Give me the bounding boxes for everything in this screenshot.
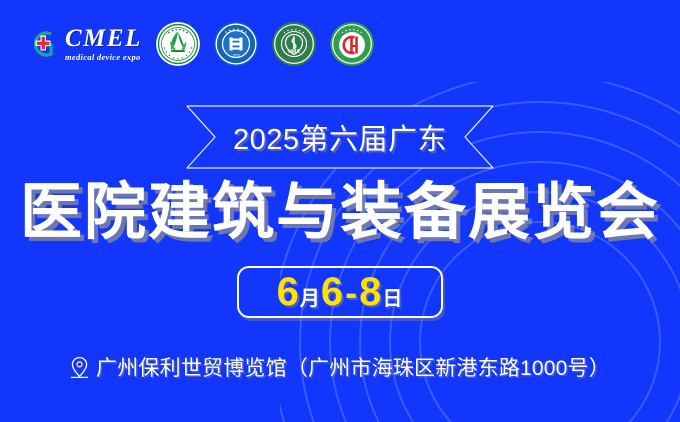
location-pin-icon (70, 356, 89, 379)
date-range-dash: - (343, 275, 359, 311)
venue-line: 广州保利世贸博览馆（广州市海珠区新港东路1000号） (0, 352, 680, 382)
date-day-start: 6 (321, 272, 343, 312)
event-poster: CMEL medical device expo (0, 0, 680, 422)
cmel-logo: CMEL medical device expo (26, 26, 142, 62)
cmel-logo-subtitle: medical device expo (65, 53, 142, 62)
ribbon-title: 2025第六届广东 (185, 104, 495, 170)
edition-ribbon-banner: 2025第六届广东 (185, 104, 495, 170)
cmel-logo-title: CMEL (65, 26, 142, 51)
date-month-unit: 月 (300, 289, 320, 309)
page-title: 医院建筑与装备展览会 (0, 182, 680, 244)
red-ca-badge-icon (330, 22, 374, 66)
event-date-badge: 6 月 6 - 8 日 (237, 266, 443, 318)
svg-text:1979: 1979 (232, 54, 239, 58)
cmel-cross-mark-icon (26, 27, 60, 61)
sponsor-logo-strip: CMEL medical device expo (26, 18, 374, 70)
venue-text: 广州保利世贸博览馆（广州市海珠区新港东路1000号） (96, 352, 610, 382)
date-month-number: 6 (277, 272, 299, 312)
blue-hospital-emblem-badge-icon: 1979 (214, 22, 258, 66)
date-day-end: 8 (359, 272, 381, 312)
green-plant-association-badge-icon (156, 22, 200, 66)
date-day-unit: 日 (382, 289, 402, 309)
green-hma-badge-icon: HMA (272, 22, 316, 66)
svg-text:HMA: HMA (288, 49, 300, 55)
